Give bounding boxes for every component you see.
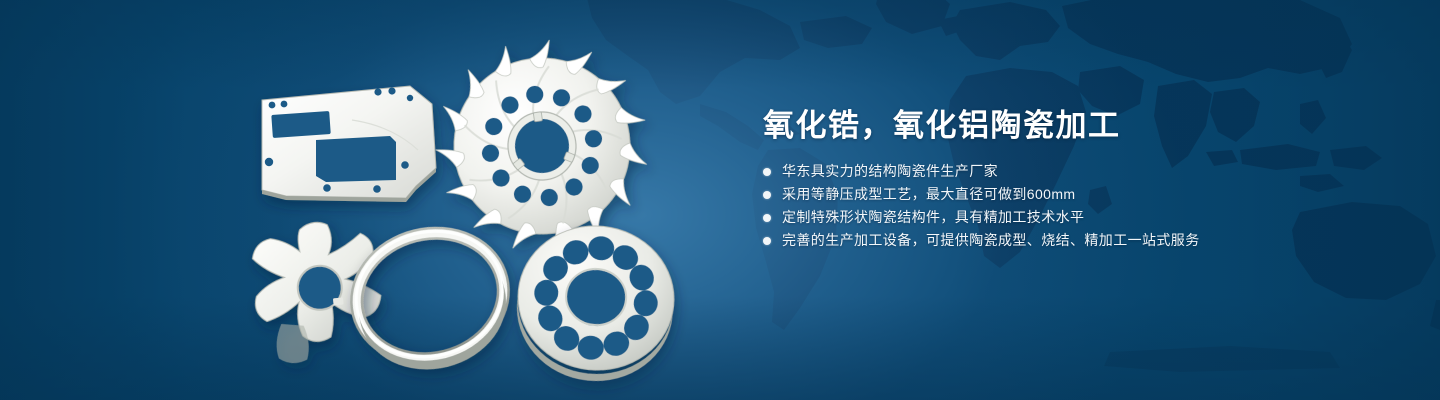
bullet-dot-icon	[763, 214, 771, 222]
feature-list: 华东具实力的结构陶瓷件生产厂家 采用等静压成型工艺，最大直径可做到600mm 定…	[763, 160, 1363, 252]
ceramic-perforated-ring	[510, 218, 681, 388]
list-item: 华东具实力的结构陶瓷件生产厂家	[763, 160, 1363, 183]
list-item: 定制特殊形状陶瓷结构件，具有精加工技术水平	[763, 206, 1363, 229]
feature-text: 定制特殊形状陶瓷结构件，具有精加工技术水平	[782, 206, 1084, 229]
list-item: 采用等静压成型工艺，最大直径可做到600mm	[763, 183, 1363, 206]
feature-text: 完善的生产加工设备，可提供陶瓷成型、烧结、精加工一站式服务	[782, 229, 1200, 252]
ceramic-parts-photo	[0, 0, 760, 400]
list-item: 完善的生产加工设备，可提供陶瓷成型、烧结、精加工一站式服务	[763, 229, 1363, 252]
bullet-dot-icon	[763, 168, 771, 176]
ceramic-plate	[262, 86, 436, 202]
bullet-dot-icon	[763, 237, 771, 245]
feature-text: 采用等静压成型工艺，最大直径可做到600mm	[782, 183, 1075, 206]
bullet-dot-icon	[763, 191, 771, 199]
banner-text-block: 氧化锆，氧化铝陶瓷加工 华东具实力的结构陶瓷件生产厂家 采用等静压成型工艺，最大…	[763, 106, 1363, 252]
page-title: 氧化锆，氧化铝陶瓷加工	[763, 106, 1363, 146]
ceramic-cross-blade	[247, 216, 387, 366]
hero-banner: 氧化锆，氧化铝陶瓷加工 华东具实力的结构陶瓷件生产厂家 采用等静压成型工艺，最大…	[0, 0, 1440, 400]
feature-text: 华东具实力的结构陶瓷件生产厂家	[782, 160, 998, 183]
